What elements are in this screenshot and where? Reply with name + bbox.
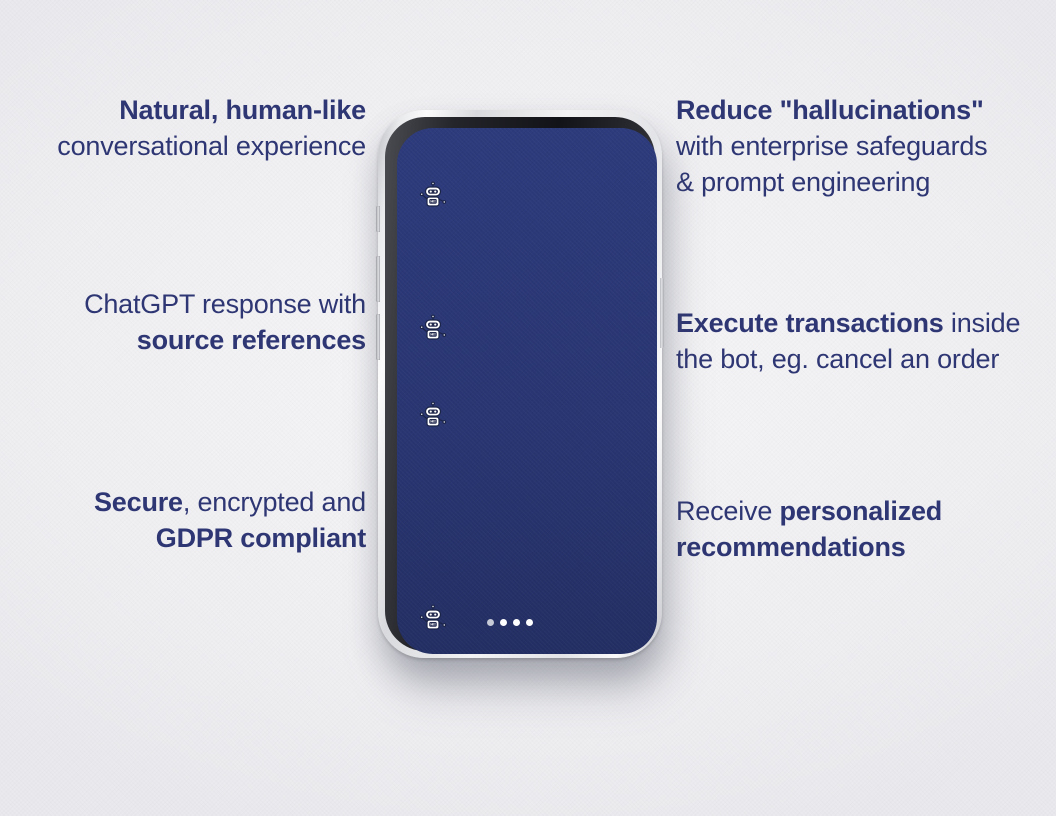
callout-execute-transactions: Execute transactions inside the bot, eg.… (676, 305, 1056, 377)
callout-secure-gdpr: Secure, encrypted and GDPR compliant (14, 484, 366, 556)
svg-text:HI!: HI! (430, 332, 435, 337)
silent-switch-button[interactable] (376, 206, 380, 232)
typing-dot (500, 619, 507, 626)
callout-bold-text: Execute transactions (676, 308, 944, 338)
typing-dot (526, 619, 533, 626)
callout-bold-text: recommendations (676, 532, 906, 562)
callout-line: the bot, eg. cancel an order (676, 341, 1056, 377)
callout-line: GDPR compliant (14, 520, 366, 556)
phone-outer-frame: HI! (378, 110, 662, 658)
callout-plain-text: , encrypted and (183, 487, 366, 517)
callout-bold-text: Secure (94, 487, 183, 517)
bot-avatar-icon: HI! (417, 603, 449, 635)
callout-line: Reduce "hallucinations" (676, 92, 1056, 128)
callout-bold-text: Reduce "hallucinations" (676, 95, 984, 125)
bot-avatar-icon: HI! (417, 400, 449, 432)
callout-line: Execute transactions inside (676, 305, 1056, 341)
bot-avatar-icon: HI! (417, 313, 449, 345)
typing-dots (487, 619, 533, 626)
callout-bold-text: source references (137, 325, 366, 355)
callout-line: Receive personalized (676, 493, 1056, 529)
callout-personalized-recommendations: Receive personalized recommendations (676, 493, 1056, 565)
typing-dot (513, 619, 520, 626)
callout-plain-text: Receive (676, 496, 779, 526)
phone-screen-chat-app[interactable]: HI! (397, 128, 657, 654)
power-button[interactable] (660, 278, 664, 348)
bot-avatar-icon: HI! (417, 180, 449, 212)
callout-line: conversational experience (14, 128, 366, 164)
slide-stage: Natural, human-like conversational exper… (0, 0, 1056, 816)
callout-line: with enterprise safeguards (676, 128, 1056, 164)
callout-line: Secure, encrypted and (14, 484, 366, 520)
callout-reduce-hallucinations: Reduce "hallucinations" with enterprise … (676, 92, 1056, 201)
callout-line: & prompt engineering (676, 164, 1056, 200)
callout-natural-conversational: Natural, human-like conversational exper… (14, 92, 366, 164)
svg-text:HI!: HI! (430, 622, 435, 627)
typing-dot (487, 619, 494, 626)
callout-bold-text: personalized (779, 496, 942, 526)
svg-text:HI!: HI! (430, 199, 435, 204)
volume-down-button[interactable] (376, 314, 380, 360)
callout-bold-text: Natural, human-like (119, 95, 366, 125)
callout-source-references: ChatGPT response with source references (14, 286, 366, 358)
callout-plain-text: inside (944, 308, 1021, 338)
phone-bezel: HI! (385, 117, 655, 651)
callout-line: recommendations (676, 529, 1056, 565)
callout-line: Natural, human-like (14, 92, 366, 128)
callout-bold-text: GDPR compliant (156, 523, 366, 553)
svg-text:HI!: HI! (430, 419, 435, 424)
volume-up-button[interactable] (376, 256, 380, 302)
callout-line: ChatGPT response with (14, 286, 366, 322)
smartphone-mockup: HI! (378, 110, 662, 658)
callout-line: source references (14, 322, 366, 358)
